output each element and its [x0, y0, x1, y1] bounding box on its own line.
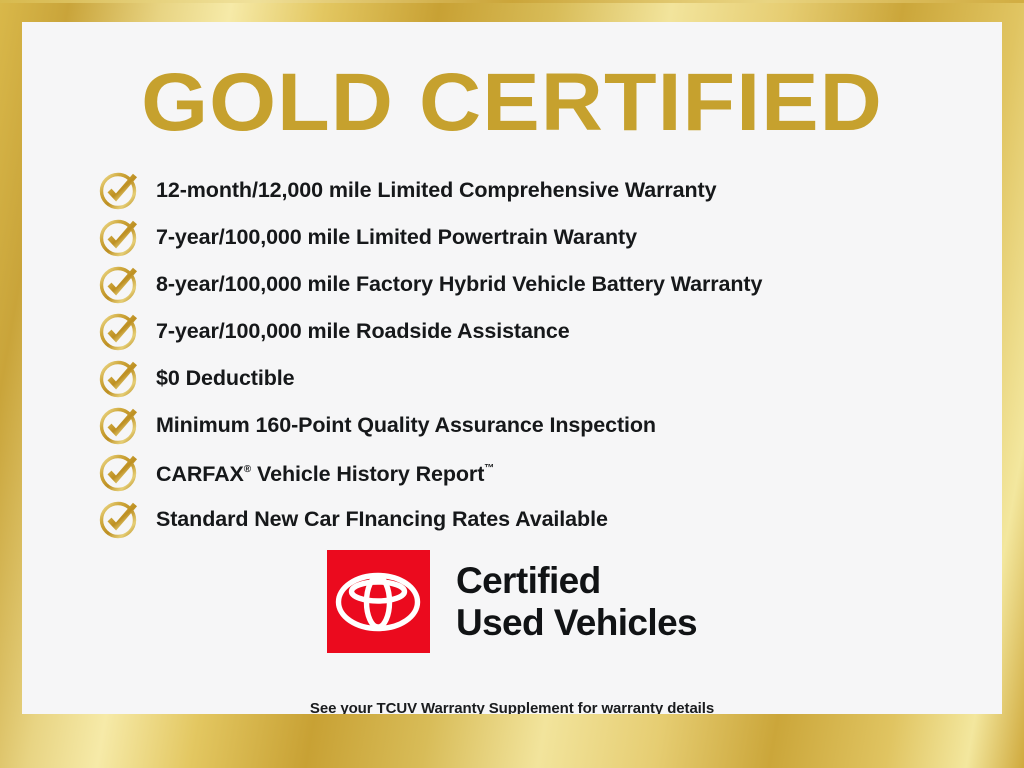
- list-item: CARFAX® Vehicle History Report™: [98, 448, 978, 495]
- gold-check-circle-icon: [98, 263, 140, 305]
- page-title: GOLD CERTIFIED: [22, 60, 1002, 146]
- list-item: 8-year/100,000 mile Factory Hybrid Vehic…: [98, 260, 978, 307]
- trademark-mark: ™: [484, 463, 494, 474]
- list-item-label-carfax: CARFAX® Vehicle History Report™: [156, 457, 494, 486]
- list-item: Standard New Car FInancing Rates Availab…: [98, 495, 978, 542]
- list-item: Minimum 160-Point Quality Assurance Insp…: [98, 401, 978, 448]
- list-item-label: 7-year/100,000 mile Roadside Assistance: [156, 319, 570, 343]
- wordmark-line-1: Certified: [456, 560, 697, 602]
- carfax-brand-text: CARFAX: [156, 462, 244, 486]
- list-item: 7-year/100,000 mile Limited Powertrain W…: [98, 213, 978, 260]
- list-item-label: $0 Deductible: [156, 366, 295, 390]
- certificate-panel: GOLD CERTIFIED: [22, 22, 1002, 714]
- carfax-report-text: Vehicle History Report: [251, 462, 484, 486]
- gold-check-circle-icon: [98, 357, 140, 399]
- gold-check-circle-icon: [98, 451, 140, 493]
- warranty-footnote: See your TCUV Warranty Supplement for wa…: [22, 700, 1002, 714]
- gold-certified-certificate: GOLD CERTIFIED: [0, 0, 1024, 768]
- benefit-list: 12-month/12,000 mile Limited Comprehensi…: [98, 166, 978, 542]
- wordmark-line-2: Used Vehicles: [456, 602, 697, 644]
- gold-check-circle-icon: [98, 498, 140, 540]
- list-item-label: Minimum 160-Point Quality Assurance Insp…: [156, 413, 656, 437]
- toyota-wordmark: Certified Used Vehicles: [456, 560, 697, 644]
- gold-check-circle-icon: [98, 169, 140, 211]
- list-item: 7-year/100,000 mile Roadside Assistance: [98, 307, 978, 354]
- list-item: $0 Deductible: [98, 354, 978, 401]
- toyota-emblem-icon: [327, 550, 430, 653]
- gold-check-circle-icon: [98, 404, 140, 446]
- gold-check-circle-icon: [98, 216, 140, 258]
- toyota-certified-used-vehicles-lockup: Certified Used Vehicles: [22, 550, 1002, 653]
- frame-top-edge: [0, 0, 1024, 3]
- list-item-label: 12-month/12,000 mile Limited Comprehensi…: [156, 178, 716, 202]
- list-item-label: 7-year/100,000 mile Limited Powertrain W…: [156, 225, 637, 249]
- gold-check-circle-icon: [98, 310, 140, 352]
- list-item: 12-month/12,000 mile Limited Comprehensi…: [98, 166, 978, 213]
- list-item-label: 8-year/100,000 mile Factory Hybrid Vehic…: [156, 272, 762, 296]
- list-item-label: Standard New Car FInancing Rates Availab…: [156, 507, 608, 531]
